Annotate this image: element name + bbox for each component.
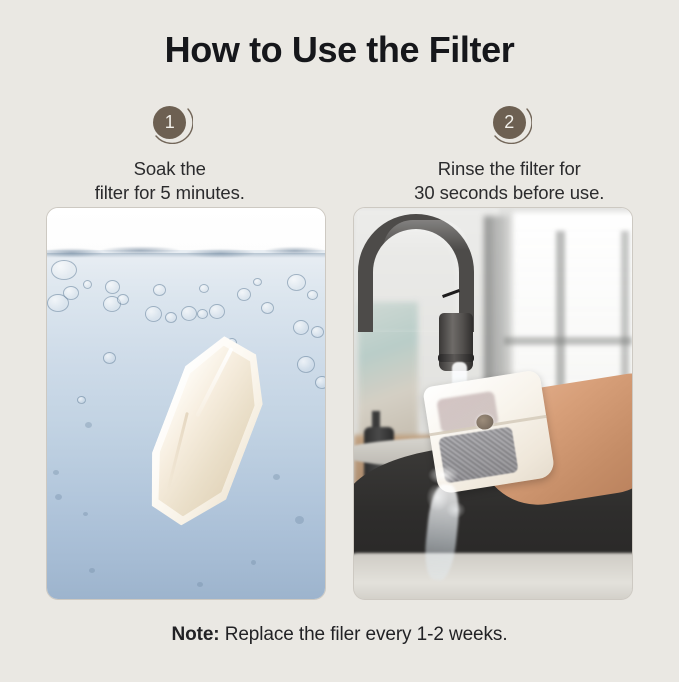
step-2-image [353, 207, 633, 600]
water-speck [295, 516, 304, 524]
bubble [105, 280, 120, 294]
step-1-badge: 1 [153, 106, 186, 139]
water-speck [83, 512, 88, 516]
bubble [293, 320, 309, 335]
step-2-caption-line2: 30 seconds before use. [414, 181, 604, 205]
step-1-badge-wrap: 1 [147, 100, 193, 144]
image-panels [46, 207, 633, 600]
steps-row: 1 Soak the filter for 5 minutes. 2 Rinse… [0, 100, 679, 205]
window-mullion [504, 337, 632, 345]
bubble [297, 356, 315, 373]
water-speck [273, 474, 280, 480]
sink-front-edge [353, 553, 633, 600]
step-2: 2 Rinse the filter for 30 seconds before… [340, 100, 679, 205]
faucet-aerator [438, 354, 474, 362]
bubble [199, 284, 209, 293]
step-2-badge-wrap: 2 [486, 100, 532, 144]
bubble [117, 294, 129, 305]
water-speck [89, 568, 95, 573]
water-speck [197, 582, 203, 587]
page-title: How to Use the Filter [0, 27, 679, 73]
bubble [197, 309, 208, 319]
water-speck [53, 470, 59, 475]
bubble [261, 302, 274, 314]
bubble [153, 284, 166, 296]
bubble [103, 352, 116, 364]
bubble [77, 396, 86, 404]
step-2-caption: Rinse the filter for 30 seconds before u… [414, 157, 604, 205]
bubble [209, 304, 225, 319]
water-speck [85, 422, 92, 428]
bubble [165, 312, 177, 323]
bubble [51, 260, 77, 280]
water-surface-glow [47, 253, 325, 258]
bubble [83, 280, 92, 289]
bubble [47, 294, 69, 312]
bubble [253, 278, 262, 286]
footer-note: Note: Replace the filer every 1-2 weeks. [0, 622, 679, 648]
bubble [315, 376, 326, 389]
step-1-caption: Soak the filter for 5 minutes. [95, 157, 245, 205]
note-label: Note: [171, 624, 219, 645]
bubble [145, 306, 162, 322]
water-speck [55, 494, 62, 500]
bubble [311, 326, 324, 338]
water-speck [251, 560, 256, 565]
bubble [307, 290, 318, 300]
step-2-caption-line1: Rinse the filter for [414, 157, 604, 181]
step-1-caption-line1: Soak the [95, 157, 245, 181]
bubble [237, 288, 251, 301]
note-text: Replace the filer every 1-2 weeks. [225, 624, 508, 645]
step-1: 1 Soak the filter for 5 minutes. [0, 100, 340, 205]
bubble [181, 306, 197, 321]
bubble [287, 274, 306, 291]
step-1-caption-line2: filter for 5 minutes. [95, 181, 245, 205]
step-1-image [46, 207, 326, 600]
step-2-badge: 2 [493, 106, 526, 139]
how-to-use-filter-infographic: How to Use the Filter 1 Soak the filter … [0, 0, 679, 682]
